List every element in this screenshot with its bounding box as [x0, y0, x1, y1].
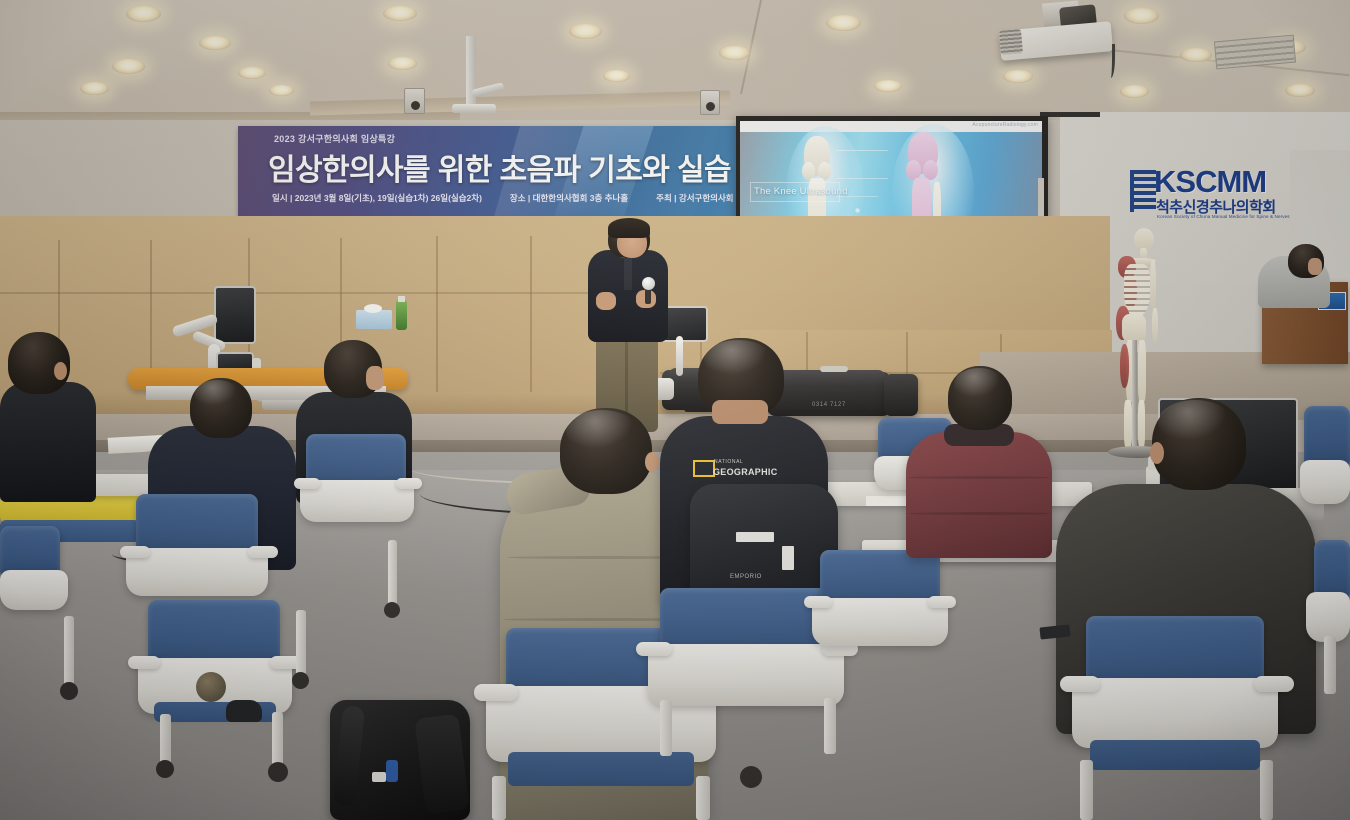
- downlight: [199, 36, 231, 50]
- jacket-label: [782, 546, 794, 570]
- ceiling-speaker-icon: [404, 88, 425, 114]
- banner-title: 임상한의사를 위한 초음파 기초와 실습: [238, 145, 760, 189]
- presenter-hand-left: [596, 292, 616, 310]
- microphone-stem: [645, 288, 651, 304]
- slide-watermark: AcupunctureRadiology.com: [972, 122, 1038, 128]
- jacket-label: [736, 532, 774, 542]
- attendee-maroon-jacket: [906, 432, 1052, 558]
- downlight: [80, 82, 109, 95]
- national-geographic-logo-icon: [693, 460, 715, 477]
- banner-kicker: 2023 강서구한의사회 임상특강: [238, 132, 760, 145]
- banner-meta-date: 일시 | 2023년 3월 8일(기초), 19일(실습1차) 26일(실습2차…: [272, 192, 482, 204]
- wood-seam: [0, 292, 620, 294]
- attendee-neck: [712, 400, 768, 424]
- chair-armrest: [294, 478, 320, 489]
- chair-shell: [812, 598, 948, 646]
- chair-shell: [1306, 592, 1350, 642]
- attendee-face-profile: [366, 366, 384, 390]
- slide-title: The Knee Ultrasound: [754, 186, 848, 197]
- presenter-hair: [608, 218, 650, 238]
- chair-shell: [1300, 460, 1350, 504]
- chair-armrest: [396, 478, 422, 489]
- skeleton-stand-pole: [1132, 340, 1137, 450]
- ceiling-mount-arm: [452, 104, 496, 113]
- presenter-sweater-placket: [624, 256, 632, 290]
- downlight: [388, 57, 417, 70]
- kscmm-spine-mark-icon: [1130, 170, 1156, 212]
- chair-leg: [824, 698, 836, 754]
- wood-seam: [530, 236, 532, 400]
- chair-castor: [156, 760, 174, 778]
- chair-leg: [272, 712, 283, 768]
- screen-roller-housing: [1040, 112, 1100, 117]
- attendee-ear: [54, 362, 67, 380]
- chiropractic-table: [884, 374, 918, 416]
- chair-leg: [492, 776, 506, 820]
- downlight: [383, 6, 417, 21]
- backpack-tag: [372, 772, 386, 782]
- attendee-ear: [1150, 442, 1164, 464]
- chair-armrest: [928, 596, 956, 608]
- chair-armrest: [1254, 676, 1294, 692]
- attendee-hair-sheen: [954, 368, 1004, 400]
- chair-armrest: [1060, 676, 1100, 692]
- banner-meta-place: 장소 | 대한한의사협회 3층 추나홀: [510, 192, 628, 204]
- chair-leg: [296, 610, 306, 676]
- kscmm-wall-logo: KSCMM 척추신경추나의학회 Korean Society of Chuna …: [1130, 156, 1298, 224]
- chair-leg: [64, 616, 74, 686]
- chair-leg: [696, 776, 710, 820]
- downlight: [874, 80, 902, 92]
- ultrasound-monitor: [214, 286, 256, 344]
- paper-handout: [866, 496, 908, 506]
- banner-meta-row: 일시 | 2023년 3월 8일(기초), 19일(실습1차) 26일(실습2차…: [238, 192, 760, 204]
- downlight: [603, 70, 630, 82]
- maroon-jacket-seam: [908, 512, 1050, 515]
- tissue-puff: [364, 304, 382, 313]
- chair-seat: [1090, 740, 1260, 770]
- chair-backrest: [1314, 540, 1350, 600]
- maroon-jacket-seam: [908, 476, 1050, 479]
- seminar-room-photo: 2023 강서구한의사회 임상특강 임상한의사를 위한 초음파 기초와 실습 일…: [0, 0, 1350, 820]
- downlight: [1124, 8, 1159, 24]
- misc-object: [196, 672, 226, 702]
- backpack-pocket-item: [386, 760, 398, 782]
- downlight: [126, 6, 161, 22]
- ceiling-speaker-icon: [700, 90, 720, 115]
- chair-leg: [388, 540, 397, 606]
- chair-castor: [384, 602, 400, 618]
- kscmm-english-name: Korean Society of Chuna Manual Medicine …: [1157, 214, 1290, 219]
- chair-leg: [1080, 760, 1093, 820]
- table-frame: [790, 410, 868, 416]
- downlight: [826, 15, 861, 31]
- podium-person-face: [1308, 258, 1322, 275]
- chair-shell: [648, 644, 844, 706]
- downlight: [1180, 48, 1212, 62]
- monitor-arm: [676, 336, 683, 376]
- attendee-hair-sheen: [704, 340, 772, 378]
- hoodie-brand-text-line2: GEOGRAPHIC: [713, 467, 778, 477]
- chair-shell: [1072, 678, 1278, 748]
- gel-bottle-cap: [398, 296, 405, 302]
- attendee-shoe: [226, 700, 262, 722]
- chair-leg: [1260, 760, 1273, 820]
- attendee-body: [0, 382, 96, 502]
- chair-leg: [660, 700, 672, 756]
- wood-seam: [436, 236, 438, 400]
- chair-leg: [160, 714, 171, 766]
- chair-armrest: [120, 546, 150, 558]
- chair-armrest: [128, 656, 160, 669]
- chair-backrest: [136, 494, 258, 556]
- chair-castor: [292, 672, 309, 689]
- chair-armrest: [636, 642, 672, 656]
- kscmm-acronym: KSCMM: [1154, 164, 1266, 200]
- downlight: [238, 67, 266, 79]
- chair-armrest: [474, 684, 518, 701]
- downlight: [112, 59, 145, 74]
- chair-leg: [1324, 636, 1336, 694]
- chair-castor: [268, 762, 288, 782]
- attendee-hair-sheen: [1158, 400, 1232, 444]
- chiropractic-table-pad: [774, 370, 886, 388]
- downlight: [1120, 85, 1149, 98]
- downlight: [719, 46, 750, 60]
- attendee-ear: [645, 452, 659, 472]
- chair-armrest: [248, 546, 278, 558]
- gel-bottle: [396, 300, 407, 330]
- downlight: [269, 85, 294, 96]
- chair-armrest: [804, 596, 832, 608]
- jacket-print: EMPORIO: [730, 574, 762, 580]
- chair-shell: [0, 570, 68, 610]
- banner-meta-host: 주최 | 강서구한의사회: [656, 192, 733, 204]
- event-banner: 2023 강서구한의사회 임상특강 임상한의사를 위한 초음파 기초와 실습 일…: [238, 126, 760, 222]
- downlight: [1003, 70, 1033, 83]
- chair-seat: [508, 752, 694, 786]
- slide-top-bar: AcupunctureRadiology.com: [740, 121, 1042, 132]
- downlight: [1285, 84, 1315, 97]
- chiropractic-table-label: 0314 7127: [812, 402, 846, 408]
- attendee-hair-sheen: [566, 410, 638, 452]
- hoodie-brand-text-line1: NATIONAL: [714, 459, 743, 465]
- microphone-icon: [642, 277, 655, 290]
- chair-castor: [740, 766, 762, 788]
- chair-castor: [60, 682, 78, 700]
- chiropractic-table-handle: [820, 366, 848, 372]
- chair-backrest: [1304, 406, 1350, 468]
- attendee-hair-sheen: [194, 380, 240, 408]
- ceiling-mount-bracket: [466, 36, 476, 110]
- downlight: [569, 24, 602, 39]
- projector-vent: [999, 29, 1023, 55]
